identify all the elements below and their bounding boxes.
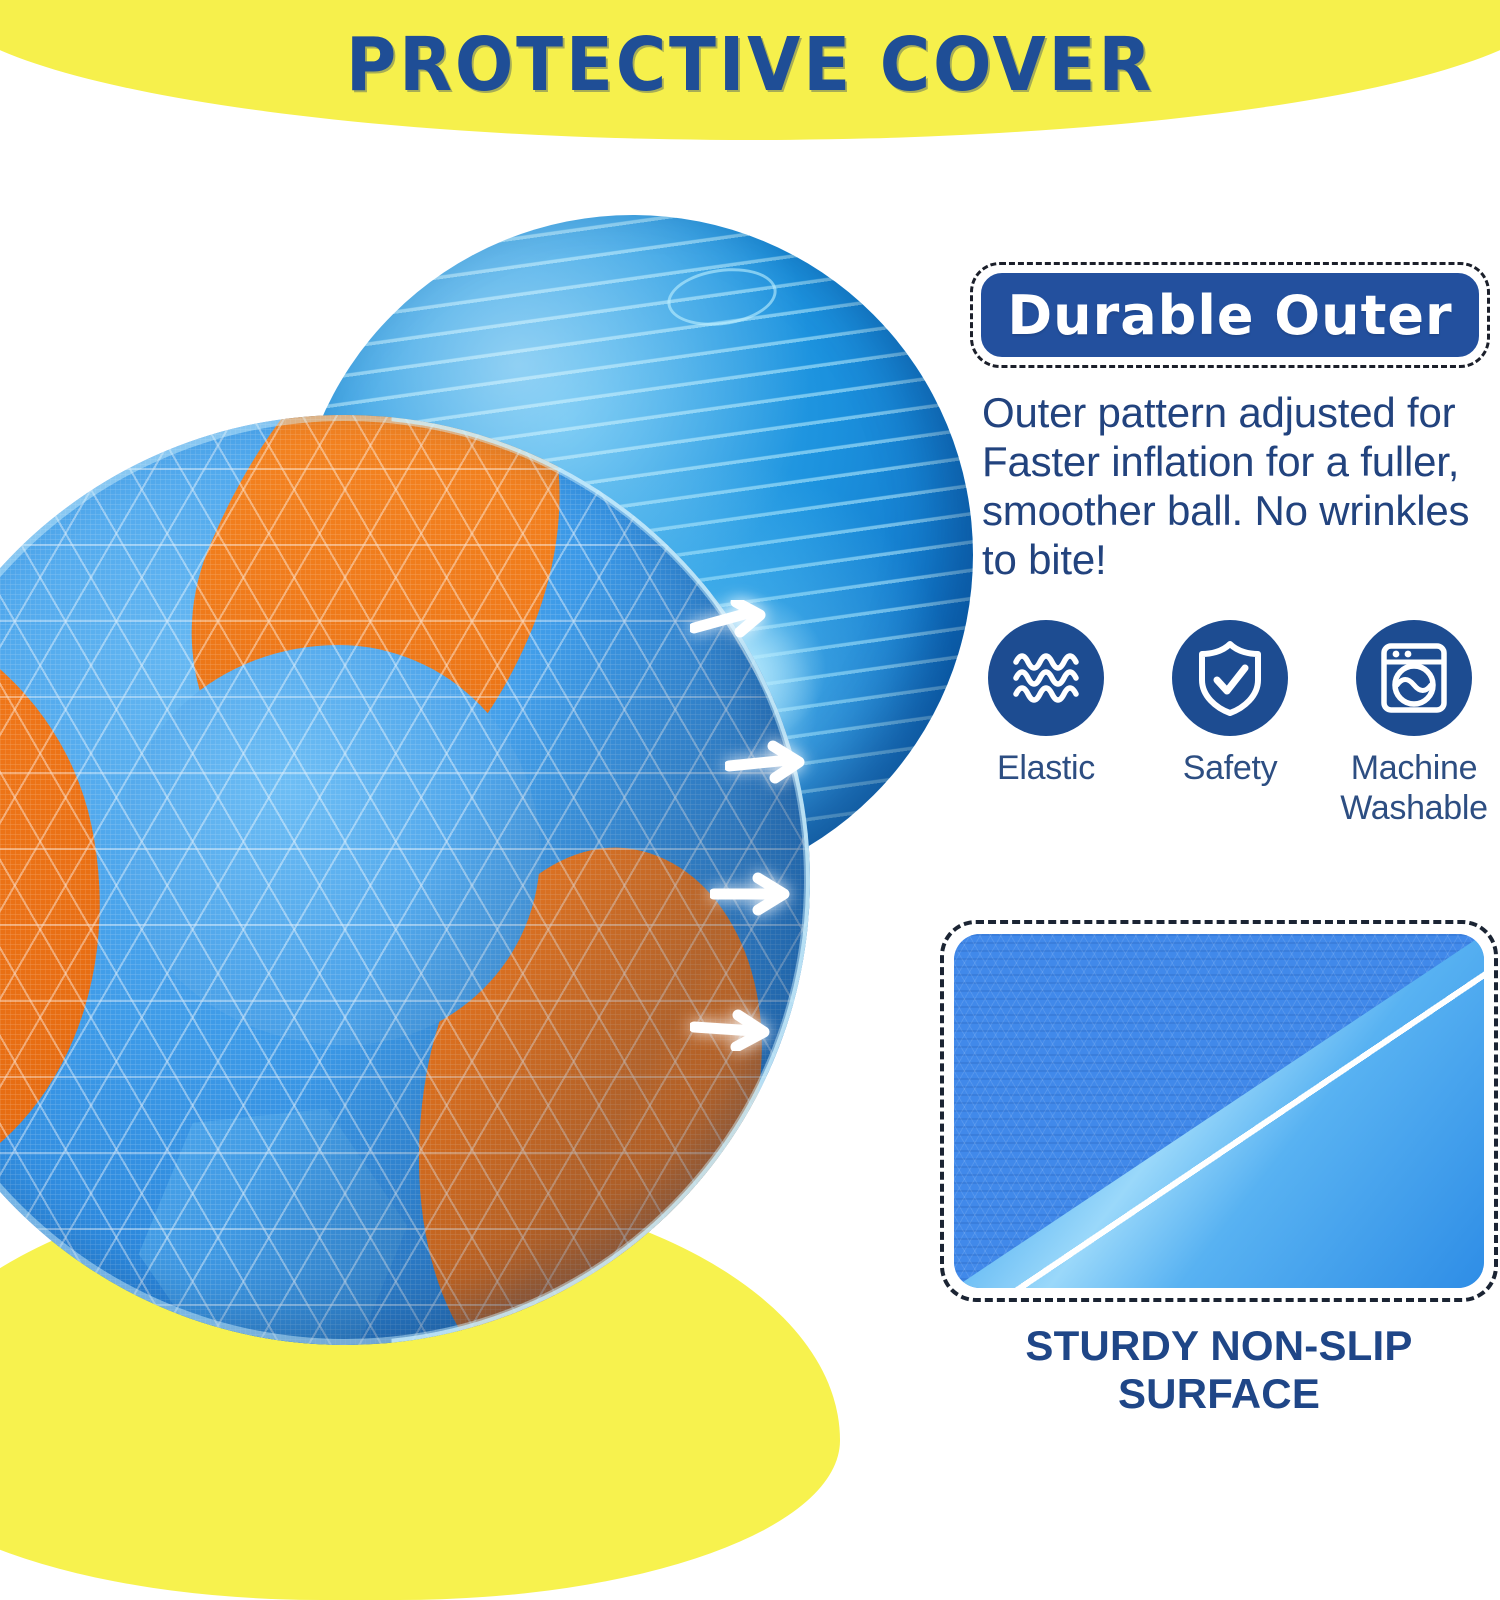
direction-arrow-icon <box>710 870 806 916</box>
feature-icon-row: Elastic Safety <box>960 620 1500 840</box>
surface-comparison-image <box>954 934 1484 1288</box>
feature-icon-label: Machine Washable <box>1328 748 1500 828</box>
feature-description: Outer pattern adjusted for Faster inflat… <box>982 388 1494 584</box>
feature-icon-label: Elastic <box>997 748 1095 788</box>
ball-valve-dimple <box>664 262 781 333</box>
icon-circle <box>1172 620 1288 736</box>
badge-label: Durable Outer <box>1007 284 1452 347</box>
direction-arrow-icon <box>690 1005 786 1051</box>
washing-machine-icon <box>1374 638 1454 718</box>
icon-circle <box>1356 620 1472 736</box>
feature-icon-label: Safety <box>1183 748 1278 788</box>
surface-caption: STURDY NON-SLIP SURFACE <box>940 1322 1498 1418</box>
direction-arrow-icon <box>725 740 821 786</box>
safety-shield-check-icon <box>1192 638 1268 718</box>
icon-circle <box>988 620 1104 736</box>
elastic-waves-icon <box>1006 638 1086 718</box>
feature-icon-elastic: Elastic <box>960 620 1132 840</box>
feature-panel: Durable Outer Outer pattern adjusted for… <box>940 150 1500 1500</box>
surface-comparison-panel <box>940 920 1498 1302</box>
feature-icon-safety: Safety <box>1144 620 1316 840</box>
hexagon-pattern-cover-ball <box>0 415 810 1345</box>
durable-outer-badge: Durable Outer <box>970 262 1490 368</box>
feature-icon-machine-washable: Machine Washable <box>1328 620 1500 840</box>
product-illustration <box>0 150 940 1500</box>
page-title: PROTECTIVE COVER <box>53 22 1448 108</box>
direction-arrow-icon <box>690 600 786 646</box>
badge-pill: Durable Outer <box>978 270 1482 360</box>
